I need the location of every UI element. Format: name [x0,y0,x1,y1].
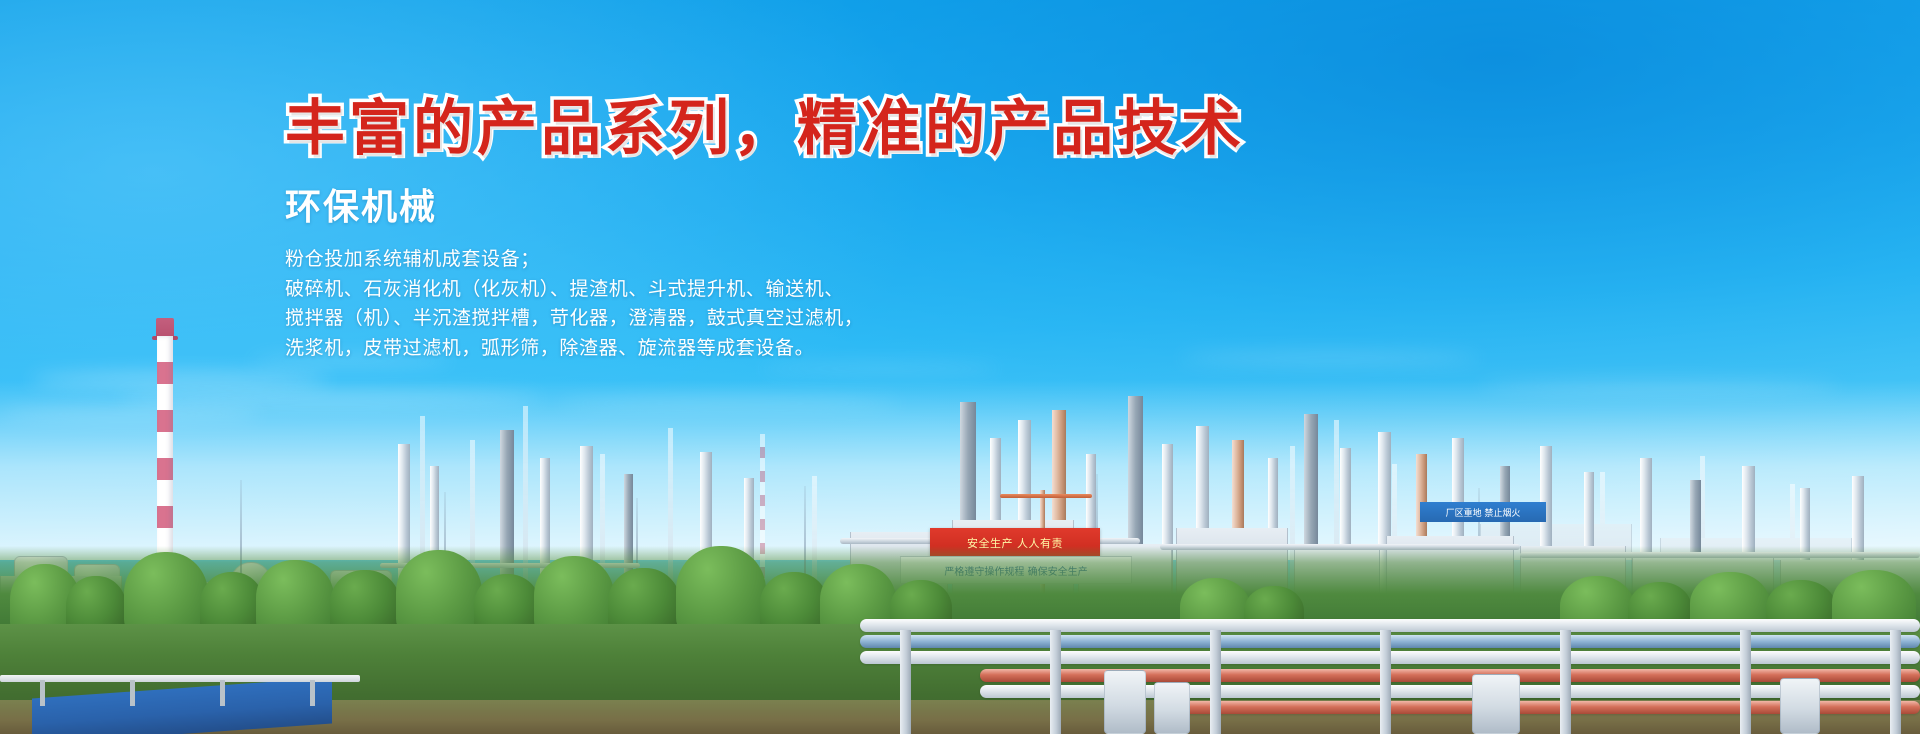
description-line-3: 搅拌器（机）、半沉渣搅拌槽，苛化器，澄清器，鼓式真空过滤机， [285,304,1405,333]
description-line-2: 破碎机、石灰消化机（化灰机）、提渣机、斗式提升机、输送机、 [285,275,1405,304]
description-line-1: 粉仓投加系统辅机成套设备； [285,245,1405,274]
guardrail-post [220,680,225,706]
foreground-pipe-rack [860,564,1920,734]
guardrail-post [40,680,45,706]
hero-banner: 安全生产 人人有责 严格遵守操作规程 确保安全生产 厂区重地 禁止烟火 [0,0,1920,734]
blue-sign-text: 厂区重地 禁止烟火 [1446,506,1521,519]
guardrail-post [310,680,315,706]
hero-copy-block: 丰富的产品系列，精准的产品技术 环保机械 粉仓投加系统辅机成套设备； 破碎机、石… [285,96,1405,363]
subheading: 环保机械 [285,186,1405,229]
description-paragraph: 粉仓投加系统辅机成套设备； 破碎机、石灰消化机（化灰机）、提渣机、斗式提升机、输… [285,245,1405,363]
page-title: 丰富的产品系列，精准的产品技术 [285,96,1405,162]
chimney-cap [156,318,174,338]
description-line-4: 洗浆机，皮带过滤机，弧形筛，除渣器、旋流器等成套设备。 [285,334,1405,363]
guardrail-post [130,680,135,706]
guardrail [0,675,360,682]
